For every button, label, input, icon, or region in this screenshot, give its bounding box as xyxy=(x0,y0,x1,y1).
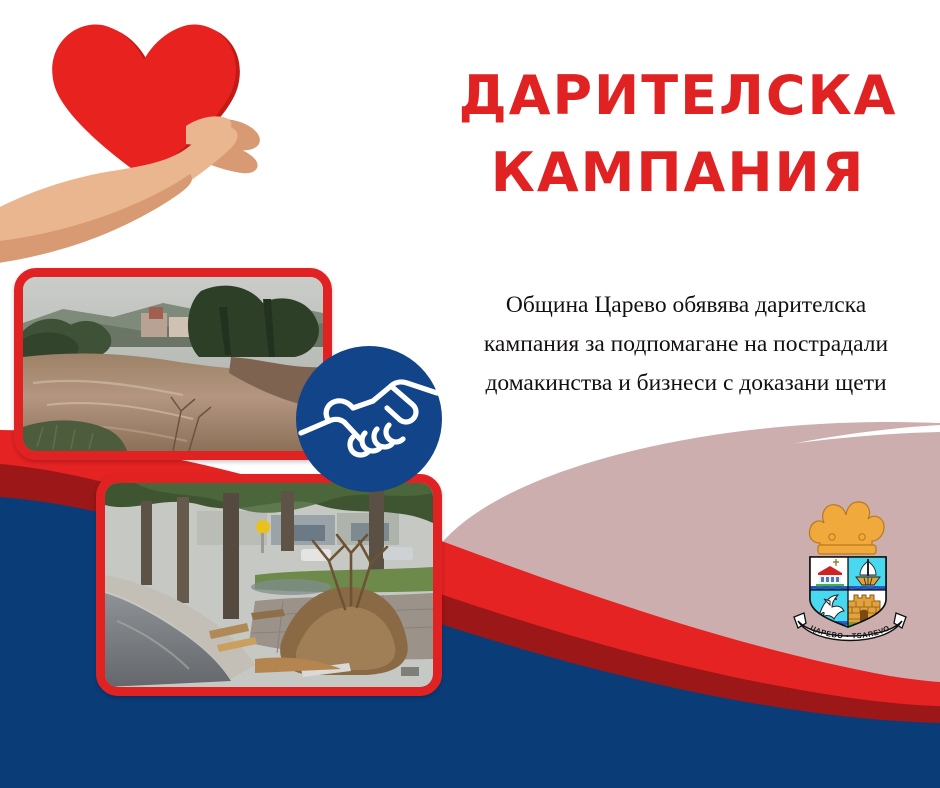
tsarevo-municipality-coat-of-arms: ЦАРЕВО • TSAREVO xyxy=(786,495,914,645)
flooded-river-image xyxy=(23,277,323,451)
shield xyxy=(810,557,886,630)
campaign-description: Община Царево обявява дарителска кампани… xyxy=(466,286,906,403)
headline-line-2: КАМПАНИЯ xyxy=(432,135,924,212)
storm-debris-photo[interactable] xyxy=(96,474,442,696)
page-title: ДАРИТЕЛСКА КАМПАНИЯ xyxy=(432,58,924,211)
headline-line-1: ДАРИТЕЛСКА xyxy=(459,64,898,127)
handshake-badge[interactable] xyxy=(295,345,443,493)
badge-circle xyxy=(296,346,442,492)
crown-icon xyxy=(809,502,884,554)
donation-campaign-poster: ЦАРЕВО • TSAREVO ДАРИТЕЛСКА КАМПАНИЯ Общ… xyxy=(0,0,940,788)
storm-debris-image xyxy=(105,483,433,687)
hand-holding-heart-icon xyxy=(0,0,290,284)
flooded-river-photo[interactable] xyxy=(14,268,332,460)
